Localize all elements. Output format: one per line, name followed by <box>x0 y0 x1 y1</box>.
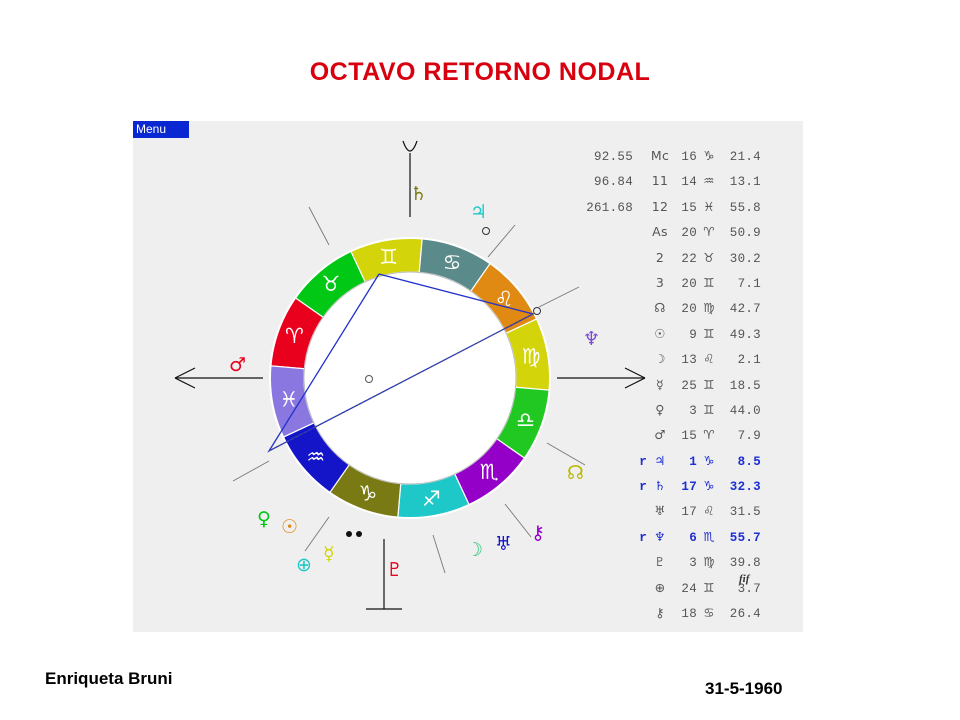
table-cell-minutes: 7.9 <box>721 424 761 449</box>
page-title: OCTAVO RETORNO NODAL <box>0 58 960 87</box>
table-row: As20♈50.9 <box>573 219 793 244</box>
planet-glyph-uranus: ♅ <box>495 535 512 554</box>
table-cell-number: 92.55 <box>573 145 633 170</box>
table-cell-body: ♇ <box>647 549 673 574</box>
table-row: ☽13♌2.1 <box>573 346 793 371</box>
table-cell-minutes: 42.7 <box>721 297 761 322</box>
table-cell-degree: 24 <box>673 577 697 602</box>
zodiac-glyph-leo: ♌ <box>495 287 514 311</box>
zodiac-glyph-sagittarius: ♐ <box>422 487 441 511</box>
table-row: ⊕24♊3.7 <box>573 575 793 600</box>
table-cell-degree: 25 <box>673 374 697 399</box>
table-cell-degree: 22 <box>673 247 697 272</box>
table-cell-degree: 20 <box>673 221 697 246</box>
table-cell-body: 3 <box>647 270 673 295</box>
planet-positions-table: 92.55Mc16♑21.496.841114♒13.1261.681215♓5… <box>573 143 793 625</box>
table-cell-degree: 3 <box>673 399 697 424</box>
point-marker-right <box>534 308 541 315</box>
table-cell-minutes: 18.5 <box>721 374 761 399</box>
table-cell-minutes: 13.1 <box>721 170 761 195</box>
zodiac-glyph-libra: ♎ <box>516 408 535 432</box>
planet-glyph-saturn: ♄ <box>410 185 427 204</box>
birth-date: 31-5-1960 <box>705 679 783 699</box>
table-cell-sign: ♍ <box>697 549 721 574</box>
table-cell-degree: 1 <box>673 450 697 475</box>
table-cell-number: 261.68 <box>573 196 633 221</box>
table-cell-body: ☊ <box>647 295 673 320</box>
table-cell-retrograde: r <box>633 475 647 500</box>
table-cell-body: ♆ <box>647 524 673 549</box>
table-cell-degree: 6 <box>673 526 697 551</box>
zodiac-glyph-capricorn: ♑ <box>359 482 378 506</box>
planet-glyph-moon: ☽ <box>466 541 483 560</box>
table-cell-sign: ♌ <box>697 498 721 523</box>
planet-glyph-mars: ♂ <box>229 356 246 375</box>
table-cell-degree: 9 <box>673 323 697 348</box>
table-row: ⚷18♋26.4 <box>573 600 793 625</box>
zodiac-glyph-cancer: ♋ <box>443 250 462 274</box>
point-marker-bottom-2 <box>356 531 362 537</box>
point-marker-top <box>483 228 490 235</box>
table-cell-sign: ♊ <box>697 321 721 346</box>
table-cell-sign: ♈ <box>697 422 721 447</box>
table-cell-sign: ♒ <box>697 168 721 193</box>
table-cell-degree: 18 <box>673 602 697 627</box>
table-cell-minutes: 44.0 <box>721 399 761 424</box>
table-cell-body: ♄ <box>647 473 673 498</box>
author-name: Enriqueta Bruni <box>45 669 173 689</box>
table-cell-degree: 20 <box>673 297 697 322</box>
table-cell-retrograde: r <box>633 450 647 475</box>
table-cell-degree: 17 <box>673 500 697 525</box>
table-cell-degree: 15 <box>673 196 697 221</box>
signature-mark: fif <box>739 573 749 585</box>
table-row: 261.681215♓55.8 <box>573 194 793 219</box>
table-row: r♄17♑32.3 <box>573 473 793 498</box>
table-cell-number: 96.84 <box>573 170 633 195</box>
table-cell-degree: 14 <box>673 170 697 195</box>
table-cell-minutes: 49.3 <box>721 323 761 348</box>
table-row: ♀3♊44.0 <box>573 397 793 422</box>
table-cell-sign: ♊ <box>697 575 721 600</box>
table-cell-minutes: 55.7 <box>721 526 761 551</box>
table-cell-minutes: 50.9 <box>721 221 761 246</box>
table-cell-retrograde: r <box>633 526 647 551</box>
table-cell-degree: 17 <box>673 475 697 500</box>
planet-glyph-mercury: ☿ <box>323 545 335 564</box>
planet-glyph-chiron: ⚷ <box>531 524 545 543</box>
table-cell-body: ♂ <box>647 422 673 447</box>
astrology-chart-panel: Menu <box>133 121 803 632</box>
planet-glyph-pluto: ♇ <box>386 561 403 580</box>
zodiac-glyph-gemini: ♊ <box>379 245 398 269</box>
table-row: ☉9♊49.3 <box>573 321 793 346</box>
table-cell-sign: ♌ <box>697 346 721 371</box>
table-cell-sign: ♊ <box>697 372 721 397</box>
table-cell-body: ☉ <box>647 321 673 346</box>
table-row: 320♊7.1 <box>573 270 793 295</box>
table-cell-sign: ♑ <box>697 143 721 168</box>
table-row: ☿25♊18.5 <box>573 372 793 397</box>
table-cell-body: ♃ <box>647 448 673 473</box>
table-row: 92.55Mc16♑21.4 <box>573 143 793 168</box>
table-cell-body: 2 <box>647 245 673 270</box>
table-cell-sign: ♑ <box>697 448 721 473</box>
table-cell-sign: ♈ <box>697 219 721 244</box>
table-cell-minutes: 32.3 <box>721 475 761 500</box>
table-cell-sign: ♊ <box>697 270 721 295</box>
table-row: r♃1♑8.5 <box>573 448 793 473</box>
table-cell-degree: 20 <box>673 272 697 297</box>
table-cell-body: ⊕ <box>647 575 673 600</box>
table-cell-body: ☿ <box>647 372 673 397</box>
planet-glyph-earth: ⊕ <box>296 556 312 575</box>
table-cell-minutes: 30.2 <box>721 247 761 272</box>
table-row: ♅17♌31.5 <box>573 498 793 523</box>
planet-glyph-jupiter: ♃ <box>470 203 487 222</box>
table-cell-body: ♅ <box>647 498 673 523</box>
table-cell-body: ☽ <box>647 346 673 371</box>
planet-glyph-venus: ♀ <box>257 510 271 529</box>
table-row: 96.841114♒13.1 <box>573 168 793 193</box>
table-cell-minutes: 55.8 <box>721 196 761 221</box>
planet-glyph-sun: ☉ <box>281 518 298 537</box>
table-cell-body: 11 <box>647 168 673 193</box>
table-cell-body: ♀ <box>647 397 673 422</box>
table-row: r♆6♏55.7 <box>573 524 793 549</box>
table-cell-sign: ♏ <box>697 524 721 549</box>
table-cell-sign: ♋ <box>697 600 721 625</box>
table-cell-sign: ♍ <box>697 295 721 320</box>
table-cell-sign: ♉ <box>697 245 721 270</box>
table-row: ☊20♍42.7 <box>573 295 793 320</box>
table-cell-minutes: 31.5 <box>721 500 761 525</box>
table-cell-minutes: 26.4 <box>721 602 761 627</box>
table-cell-minutes: 8.5 <box>721 450 761 475</box>
zodiac-glyph-aries: ♈ <box>285 324 304 348</box>
table-cell-degree: 13 <box>673 348 697 373</box>
table-row: ♂15♈7.9 <box>573 422 793 447</box>
table-row: ♇3♍39.8 <box>573 549 793 574</box>
zodiac-glyph-aquarius: ♒ <box>306 445 325 469</box>
zodiac-glyph-taurus: ♉ <box>322 272 341 296</box>
table-cell-body: As <box>647 219 673 244</box>
table-row: 222♉30.2 <box>573 245 793 270</box>
table-cell-sign: ♓ <box>697 194 721 219</box>
zodiac-glyph-virgo: ♍ <box>522 345 541 369</box>
table-cell-body: Mc <box>647 143 673 168</box>
table-cell-sign: ♑ <box>697 473 721 498</box>
table-cell-degree: 15 <box>673 424 697 449</box>
point-marker-bottom-1 <box>346 531 352 537</box>
table-cell-minutes: 2.1 <box>721 348 761 373</box>
table-cell-degree: 16 <box>673 145 697 170</box>
table-cell-body: 12 <box>647 194 673 219</box>
table-cell-minutes: 7.1 <box>721 272 761 297</box>
table-cell-sign: ♊ <box>697 397 721 422</box>
table-cell-body: ⚷ <box>647 600 673 625</box>
table-cell-degree: 3 <box>673 551 697 576</box>
zodiac-glyph-scorpio: ♏ <box>480 460 499 484</box>
table-cell-minutes: 21.4 <box>721 145 761 170</box>
